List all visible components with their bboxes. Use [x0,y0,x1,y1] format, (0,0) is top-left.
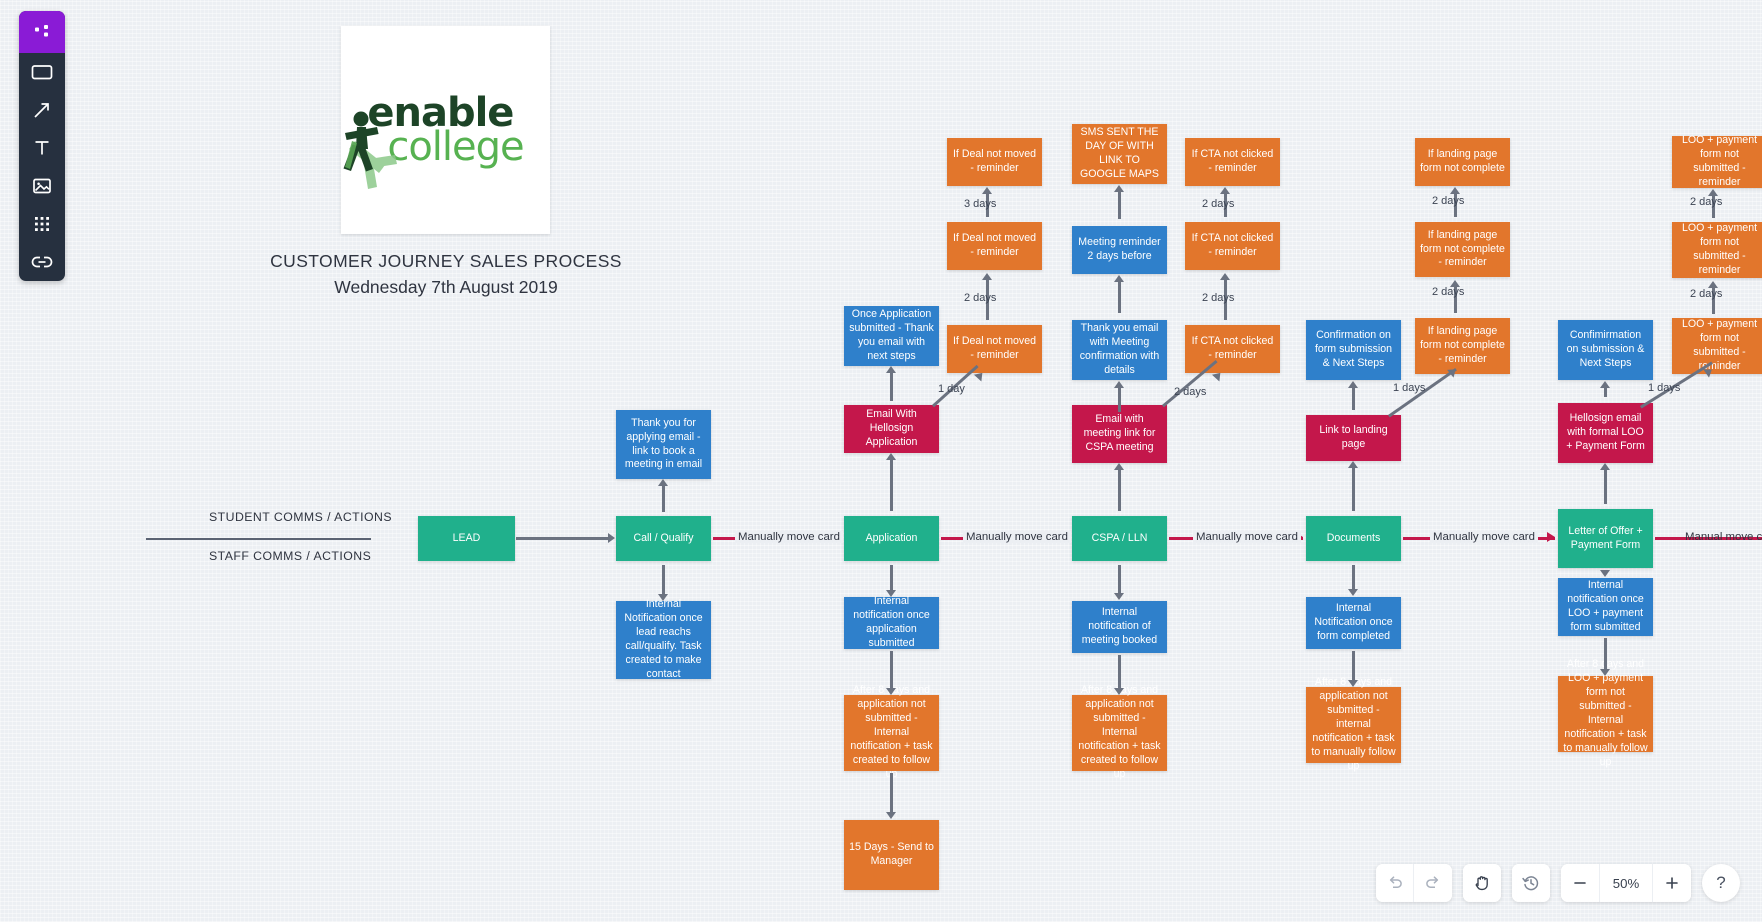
title-sub-text: Wednesday 7th August 2019 [200,274,692,300]
arrowhead-doc-down-1 [1348,589,1358,596]
connector-cspa-up-2 [1118,280,1121,313]
label-manual-move-card-cut: Manual move car [1682,531,1762,543]
arrowhead-loochain-2-to-1 [1708,189,1718,196]
title-main-text: CUSTOMER JOURNEY SALES PROCESS [200,248,692,274]
label-2-days-landing-2: 2 days [1432,286,1464,298]
arrowhead-callq-down [658,594,668,601]
node-cta-not-clicked-3[interactable]: If CTA not clicked - reminder [1185,325,1280,373]
connector-app-down-2 [890,651,893,689]
node-confirm-submission-next[interactable]: Confimirmation on submission & Next Step… [1558,320,1653,380]
whiteboard-canvas[interactable]: enable college CUSTOMER JOURNEY SALES PR… [0,0,1762,922]
node-documents[interactable]: Documents [1306,516,1401,561]
lane-label-student: STUDENT COMMS / ACTIONS [209,510,392,524]
node-loo-not-submitted-3[interactable]: LOO + payment form not submitted - remin… [1672,318,1762,374]
node-thank-you-meeting[interactable]: Thank you email with Meeting confirmatio… [1072,320,1167,380]
node-email-meeting-link[interactable]: Email with meeting link for CSPA meeting [1072,405,1167,463]
arrowhead-cspa-up-2 [1114,275,1124,282]
label-2-days-landing-1: 2 days [1432,195,1464,207]
node-loo-not-submitted-2[interactable]: LOO + payment form not submitted - remin… [1672,222,1762,278]
node-landing-form-2[interactable]: If landing page form not complete - remi… [1415,222,1510,277]
connector-app-to-hellosign [890,458,893,511]
node-loo-not-submitted-1[interactable]: LOO + payment form not submitted - remin… [1672,136,1762,188]
node-sms-sent-day[interactable]: SMS SENT THE DAY OF WITH LINK TO GOOGLE … [1072,124,1167,184]
undo-redo-group [1376,864,1452,902]
arrowhead-cspa-up-1 [1114,185,1124,192]
node-lead[interactable]: LEAD [418,516,515,561]
select-tool[interactable] [19,11,65,53]
arrowhead-cspa-up-4 [1114,463,1124,470]
arrowhead-app-to-hellosign [886,453,896,460]
arrowhead-deal-3-to-2 [982,273,992,280]
arrowhead-cspa-up-3 [1114,381,1124,388]
connector-app-down-3 [890,773,893,813]
node-deal-not-moved-2[interactable]: If Deal not moved - reminder [947,222,1042,270]
node-email-hellosign-application[interactable]: Email With Hellosign Application [844,405,939,453]
arrowhead-loo-up-1 [1600,381,1610,388]
arrowhead-landing-2-to-1 [1450,187,1460,194]
label-1-day-app: 1 day [938,383,965,395]
arrowhead-doc-up-2 [1348,461,1358,468]
connector-lead-to-call [516,537,609,540]
label-2-days-deal: 2 days [964,292,996,304]
label-2-days-loo-1: 2 days [1690,196,1722,208]
undo-button[interactable] [1376,864,1414,902]
node-letter-of-offer[interactable]: Letter of Offer + Payment Form [1558,509,1653,568]
label-manually-move-card-2: Manually move card [963,531,1071,543]
connector-cspa-down-2 [1118,655,1121,689]
label-2-days-cta-1: 2 days [1202,198,1234,210]
label-2-days-cspa-diag: 2 days [1174,386,1206,398]
left-toolbar [19,11,65,281]
connector-doc-up-1 [1352,386,1355,410]
label-manually-move-card-4: Manually move card [1430,531,1538,543]
node-thank-you-applying[interactable]: Thank you for applying email - link to b… [616,410,711,479]
link-tool[interactable] [19,243,65,281]
node-landing-form-3[interactable]: If landing page form not complete - remi… [1415,318,1510,374]
arrowhead-doc-up-1 [1348,381,1358,388]
label-manually-move-card-1: Manually move card [735,531,843,543]
hand-pan-icon [1472,873,1492,893]
plus-icon [1664,875,1680,891]
label-1-days-documents: 1 days [1393,382,1425,394]
arrowhead-loo-up-2 [1600,463,1610,470]
enable-college-logo: enable college [367,93,523,167]
rectangle-icon [30,62,54,82]
arrowhead-app-down-1 [886,590,896,597]
shape-tool[interactable] [19,53,65,91]
node-hellosign-loo[interactable]: Hellosign email with formal LOO + Paymen… [1558,403,1653,463]
history-button[interactable] [1512,864,1550,902]
zoom-group: 50% [1561,864,1691,902]
connector-callq-up [662,484,665,512]
arrowhead-cspa-down-2 [1114,688,1124,695]
arrowhead-loo-down-1 [1600,570,1610,577]
label-1-days-loo: 1 days [1648,382,1680,394]
node-cspa-lln[interactable]: CSPA / LLN [1072,516,1167,561]
node-15-days-send-to-manager[interactable]: 15 Days - Send to Manager [844,820,939,890]
node-internal-form-completed[interactable]: Internal Notification once form complete… [1306,597,1401,649]
connector-doc-down-1 [1352,565,1355,591]
connector-app-hs-to-once [890,371,893,401]
zoom-level-value[interactable]: 50% [1599,864,1653,902]
undo-icon [1386,874,1404,892]
bottom-controls-bar: 50% ? [1376,864,1740,902]
templates-tool[interactable] [19,205,65,243]
node-once-app-submitted[interactable]: Once Application submitted - Thank you e… [844,306,939,366]
arrowhead-app-hs-to-once [886,366,896,373]
arrowhead-cta-2-to-1 [1220,187,1230,194]
node-call-qualify[interactable]: Call / Qualify [616,516,711,561]
node-cta-not-clicked-1[interactable]: If CTA not clicked - reminder [1185,138,1280,186]
history-group [1512,864,1550,902]
image-tool[interactable] [19,167,65,205]
label-3-days: 3 days [964,198,996,210]
node-after8-documents[interactable]: After 8 days and application not submitt… [1306,687,1401,763]
connector-cspa-up-3 [1118,386,1121,412]
node-meeting-reminder[interactable]: Meeting reminder 2 days before [1072,226,1167,274]
arrowhead-callq-up [658,479,668,486]
node-internal-loo-submitted[interactable]: Internal notification once LOO + payment… [1558,578,1653,636]
lane-divider [146,538,371,540]
arrowhead-app-down-3 [886,812,896,819]
connector-cspa-up-4 [1118,468,1121,511]
node-after8-loo[interactable]: After 8 days and LOO + payment form not … [1558,676,1653,752]
arrowhead-cta-3-to-2 [1220,273,1230,280]
label-manually-move-card-3: Manually move card [1193,531,1301,543]
arrowhead-cspa-down-1 [1114,593,1124,600]
text-t-icon [32,138,52,158]
redo-button[interactable] [1414,864,1452,902]
image-icon [31,176,53,196]
node-after8-application[interactable]: After 8 days and application not submitt… [844,695,939,771]
node-landing-form-1[interactable]: If landing page form not complete [1415,138,1510,186]
connector-app-down-1 [890,565,893,591]
node-internal-app-submitted[interactable]: Internal notification once application s… [844,597,939,649]
label-2-days-cta-2: 2 days [1202,292,1234,304]
node-internal-meeting-booked[interactable]: Internal notification of meeting booked [1072,601,1167,653]
connector-cspa-up-1 [1118,190,1121,219]
node-application[interactable]: Application [844,516,939,561]
connector-loo-down-2 [1604,638,1607,670]
arrow-diagonal-icon [31,99,53,121]
arrowhead-loochain-3-to-2 [1708,281,1718,288]
pan-button[interactable] [1463,864,1501,902]
node-deal-not-moved-1[interactable]: If Deal not moved - reminder [947,138,1042,186]
text-tool[interactable] [19,129,65,167]
node-confirm-form-submission[interactable]: Confirmation on form submission & Next S… [1306,320,1401,380]
connector-callq-down [662,565,665,595]
node-internal-lead-reach[interactable]: Internal Notification once lead reachs c… [616,601,711,679]
zoom-in-button[interactable] [1653,864,1691,902]
arrowhead-loo-down-2 [1600,669,1610,676]
help-label: ? [1716,873,1725,893]
arrowhead-app-down-2 [886,688,896,695]
history-clock-icon [1521,873,1541,893]
help-button[interactable]: ? [1702,864,1740,902]
dots-select-icon [32,22,52,42]
connector-tool[interactable] [19,91,65,129]
label-2-days-loo-2: 2 days [1690,288,1722,300]
arrowhead-documents-loo [1547,532,1555,542]
node-link-to-landing-page[interactable]: Link to landing page [1306,415,1401,461]
connector-doc-up-2 [1352,466,1355,511]
zoom-out-button[interactable] [1561,864,1599,902]
node-after8-cspa[interactable]: After 8 days and application not submitt… [1072,695,1167,771]
arrowhead-doc-down-2 [1348,680,1358,687]
connector-doc-down-2 [1352,651,1355,681]
arrowhead-deal-2-to-1 [982,187,992,194]
node-cta-not-clicked-2[interactable]: If CTA not clicked - reminder [1185,222,1280,270]
grid-dots-icon [32,214,52,234]
lane-label-staff: STAFF COMMS / ACTIONS [209,549,371,563]
running-figure-icon [325,97,421,193]
arrowhead-lead-call [608,533,615,543]
logo-image-card[interactable]: enable college [341,26,550,234]
link-chain-icon [30,253,54,271]
minus-icon [1572,875,1588,891]
board-title[interactable]: CUSTOMER JOURNEY SALES PROCESS Wednesday… [200,248,692,301]
connector-loo-up-2 [1604,468,1607,504]
node-deal-not-moved-3[interactable]: If Deal not moved - reminder [947,325,1042,373]
redo-icon [1424,874,1442,892]
pan-group [1463,864,1501,902]
connector-cspa-down-1 [1118,565,1121,594]
